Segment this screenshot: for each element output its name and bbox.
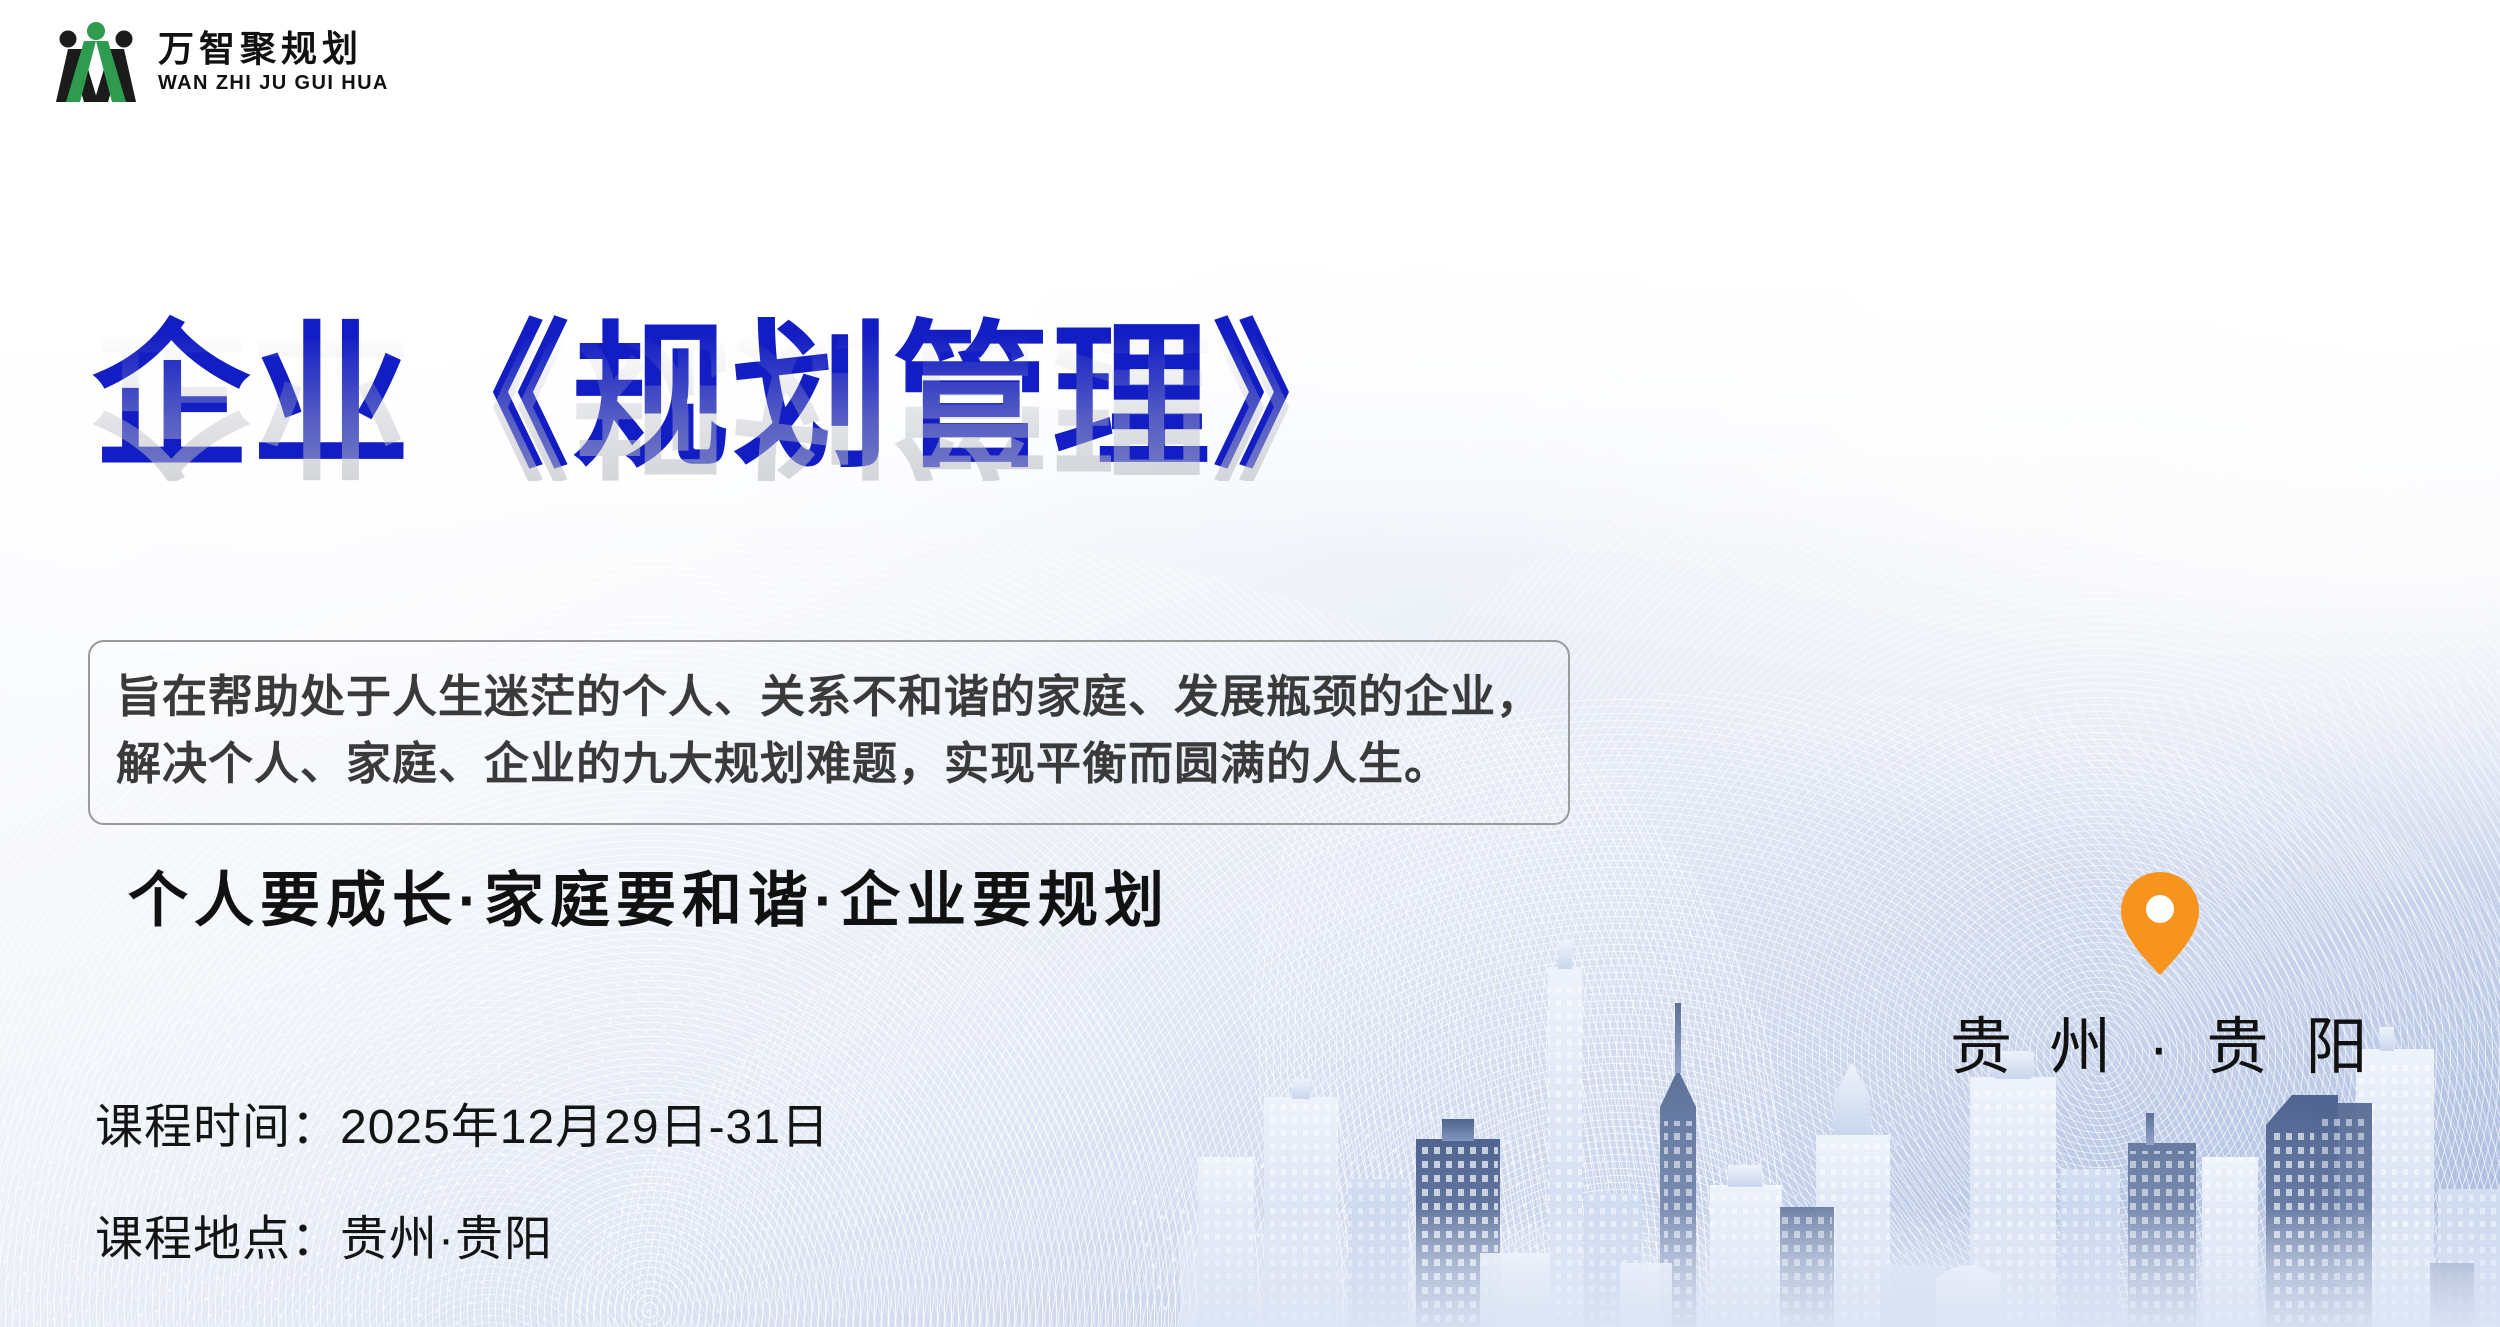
promo-poster: 万智聚规划 WAN ZHI JU GUI HUA 企业《规划管理》 企业《规划管… <box>0 0 2500 1327</box>
course-place-row: 课程地点：贵州·贵阳 <box>95 1199 830 1269</box>
tagline: 个人要成长·家庭要和谐·企业要规划 <box>128 852 1170 939</box>
course-info-block: 课程时间：2025年12月29日-31日 课程地点：贵州·贵阳 <box>95 1087 830 1269</box>
course-date-row: 课程时间：2025年12月29日-31日 <box>95 1087 830 1157</box>
location-name: 贵 州 · 贵 阳 <box>1950 996 2370 1086</box>
description-line-2: 解决个人、家庭、企业的九大规划难题，实现平衡而圆满的人生。 <box>116 731 1542 798</box>
description-line-1: 旨在帮助处于人生迷茫的个人、关系不和谐的家庭、发展瓶颈的企业， <box>116 664 1542 731</box>
location-block: 贵 州 · 贵 阳 <box>1950 868 2370 1086</box>
page-title-reflection: 企业《规划管理》 <box>92 320 1652 481</box>
description-box: 旨在帮助处于人生迷茫的个人、关系不和谐的家庭、发展瓶颈的企业， 解决个人、家庭、… <box>88 640 1570 825</box>
brand-name-cn: 万智聚规划 <box>158 31 389 69</box>
map-pin-icon <box>2118 868 2202 978</box>
brand-logo: 万智聚规划 WAN ZHI JU GUI HUA <box>48 20 389 106</box>
hero-title-block: 企业《规划管理》 企业《规划管理》 <box>92 318 1652 642</box>
brand-name-pinyin: WAN ZHI JU GUI HUA <box>158 72 389 95</box>
three-people-logo-icon <box>48 20 144 106</box>
